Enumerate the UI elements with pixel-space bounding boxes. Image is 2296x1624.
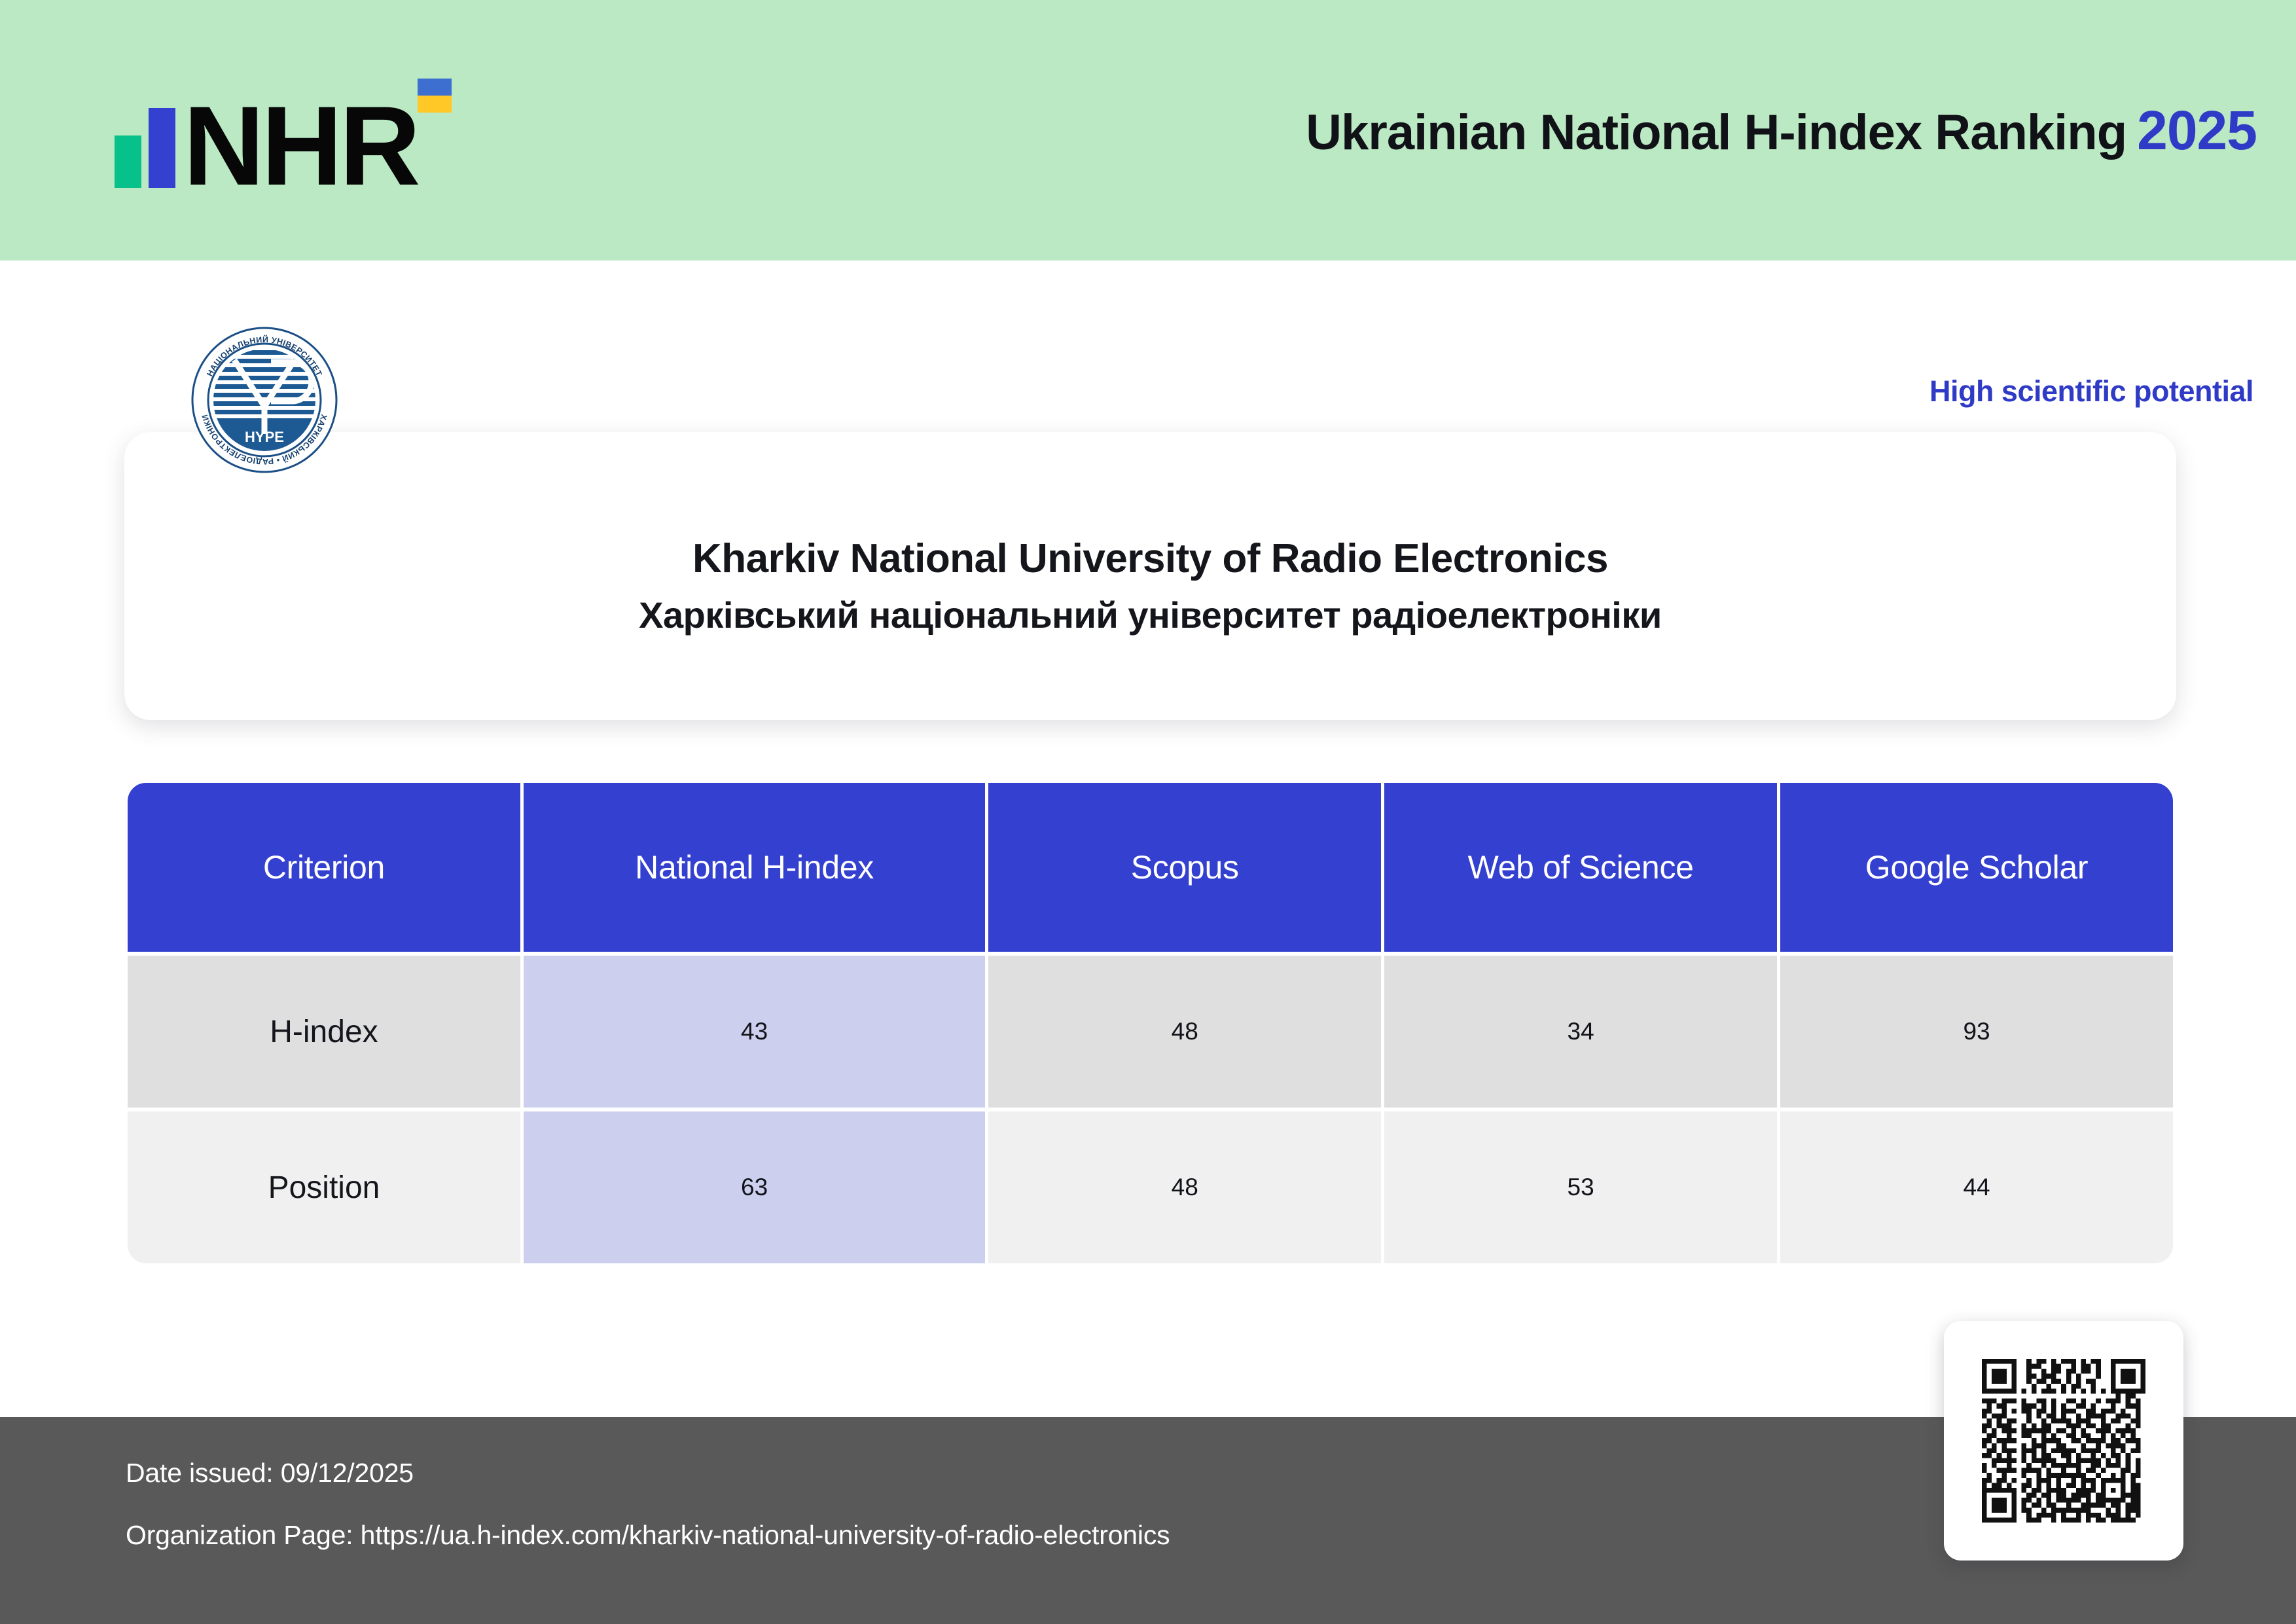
ukraine-flag-icon (418, 79, 452, 113)
cell-h-index-scopus: 48 (988, 956, 1381, 1108)
organization-name-uk: Харківський національний університет рад… (639, 594, 1662, 636)
status-badge: High scientific potential (1929, 374, 2253, 408)
logo-bar-blue (149, 108, 175, 188)
row-label-position: Position (128, 1111, 520, 1263)
nure-university-emblem-icon: НАЦІОНАЛЬНИЙ УНІВЕРСИТЕТ ХАРКІВСЬКИЙ • Р… (188, 324, 340, 476)
cell-position-national: 63 (524, 1111, 985, 1263)
organization-card: Kharkiv National University of Radio Ele… (124, 432, 2176, 720)
column-header-criterion: Criterion (128, 783, 520, 952)
header-title-group: Ukrainian National H-index Ranking 2025 (1306, 99, 2257, 162)
ranking-table: Criterion National H-index Scopus Web of… (124, 779, 2176, 1267)
page-title: Ukrainian National H-index Ranking (1306, 104, 2126, 161)
table-row: H-index 43 48 34 93 (128, 956, 2173, 1108)
brand-name: NHR (183, 100, 418, 192)
table-row: Position 63 48 53 44 (128, 1111, 2173, 1263)
flag-yellow-stripe (418, 96, 452, 113)
cell-position-wos: 53 (1384, 1111, 1777, 1263)
cell-h-index-google-scholar: 93 (1780, 956, 2173, 1108)
flag-blue-stripe (418, 79, 452, 96)
organization-name-en: Kharkiv National University of Radio Ele… (692, 535, 1608, 582)
qr-code-icon[interactable] (1982, 1359, 2145, 1523)
column-header-scopus: Scopus (988, 783, 1381, 952)
cell-position-scopus: 48 (988, 1111, 1381, 1263)
bar-chart-logo-icon (115, 108, 175, 192)
cell-h-index-wos: 34 (1384, 956, 1777, 1108)
logo-bar-green (115, 135, 141, 188)
column-header-national-h-index: National H-index (524, 783, 985, 952)
svg-text:HYPE: HYPE (245, 429, 284, 445)
page-header: NHR Ukrainian National H-index Ranking 2… (0, 0, 2296, 261)
cell-position-google-scholar: 44 (1780, 1111, 2173, 1263)
cell-h-index-national: 43 (524, 956, 985, 1108)
row-label-h-index: H-index (128, 956, 520, 1108)
qr-code-card[interactable] (1944, 1321, 2183, 1561)
table-header-row: Criterion National H-index Scopus Web of… (128, 783, 2173, 952)
column-header-google-scholar: Google Scholar (1780, 783, 2173, 952)
ranking-year: 2025 (2137, 99, 2257, 162)
nhr-logo: NHR (115, 68, 418, 192)
column-header-web-of-science: Web of Science (1384, 783, 1777, 952)
